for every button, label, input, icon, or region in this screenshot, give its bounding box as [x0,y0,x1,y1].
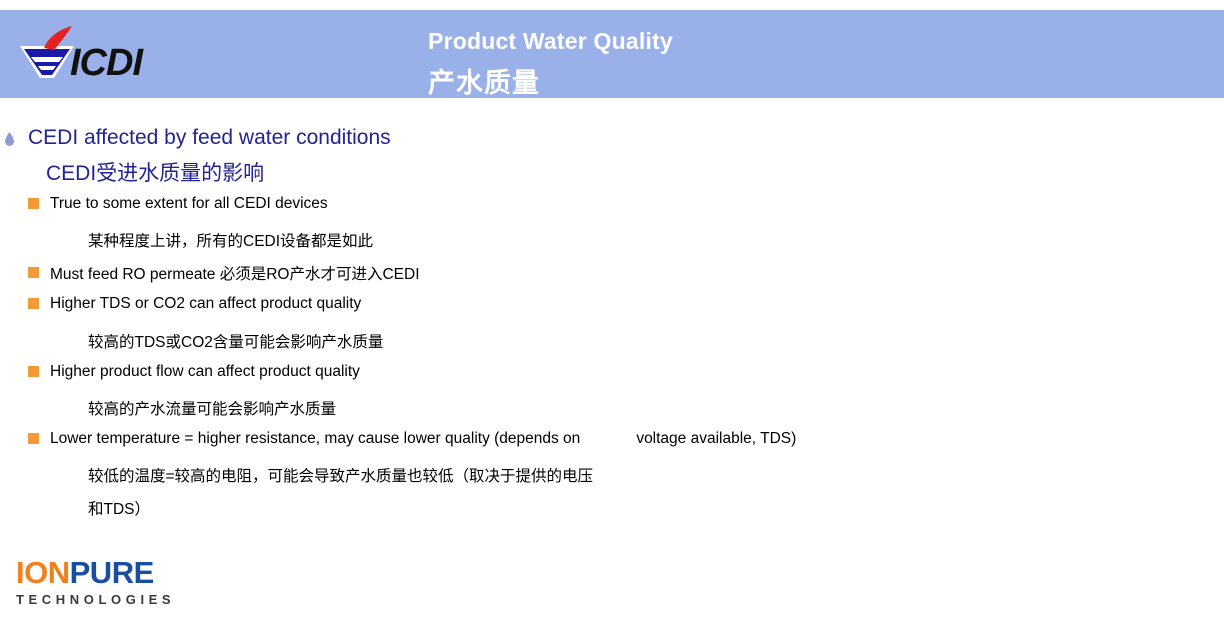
main-bullet-label-zh: CEDI受进水质量的影响 [46,157,264,187]
ionpure-word-ion: ION [16,555,70,590]
bullet-translation-1: 某种程度上讲，所有的CEDI设备都是如此 [88,229,373,251]
bullet-row-1: True to some extent for all CEDI devices [28,195,328,213]
bullet-translation-5-line2: 和TDS） [88,497,150,519]
bullet-label-2: Must feed RO permeate 必须是RO产水才可进入CEDI [50,262,420,284]
bullet-label-5-part2: voltage available, TDS) [636,430,796,448]
bullet-label-3: Higher TDS or CO2 can affect product qua… [50,295,361,313]
header-banner: ICDI Product Water Quality 产水质量 [0,10,1224,98]
bullet-label-5-part1: Lower temperature = higher resistance, m… [50,430,580,448]
icdi-logo: ICDI [14,24,194,90]
main-bullet-row: CEDI affected by feed water conditions [4,126,391,150]
ionpure-wordmark: IONPURE [16,557,175,588]
square-bullet-icon [28,433,39,444]
bullet-row-5: Lower temperature = higher resistance, m… [28,430,796,448]
bullet-translation-5-line1: 较低的温度=较高的电阻，可能会导致产水质量也较低（取决于提供的电压 [88,464,593,486]
square-bullet-icon [28,267,39,278]
bullet-label-4: Higher product flow can affect product q… [50,363,360,381]
ionpure-logo: IONPURE TECHNOLOGIES [16,557,175,606]
bullet-row-3: Higher TDS or CO2 can affect product qua… [28,295,361,313]
main-bullet-label-en: CEDI affected by feed water conditions [28,126,391,150]
header-title-en: Product Water Quality [428,28,673,55]
bullet-translation-3: 较高的TDS或CO2含量可能会影响产水质量 [88,330,383,352]
bullet-label-1: True to some extent for all CEDI devices [50,195,328,213]
bullet-row-2: Must feed RO permeate 必须是RO产水才可进入CEDI [28,262,420,284]
square-bullet-icon [28,366,39,377]
ionpure-subtitle: TECHNOLOGIES [16,593,175,606]
square-bullet-icon [28,298,39,309]
bullet-translation-4: 较高的产水流量可能会影响产水质量 [88,397,336,419]
water-drop-icon [4,129,15,144]
square-bullet-icon [28,198,39,209]
svg-text:ICDI: ICDI [70,42,144,84]
bullet-row-4: Higher product flow can affect product q… [28,363,360,381]
ionpure-word-pure: PURE [70,555,154,590]
slide-body: CEDI affected by feed water conditions C… [0,98,1224,538]
header-title-zh: 产水质量 [428,61,540,100]
